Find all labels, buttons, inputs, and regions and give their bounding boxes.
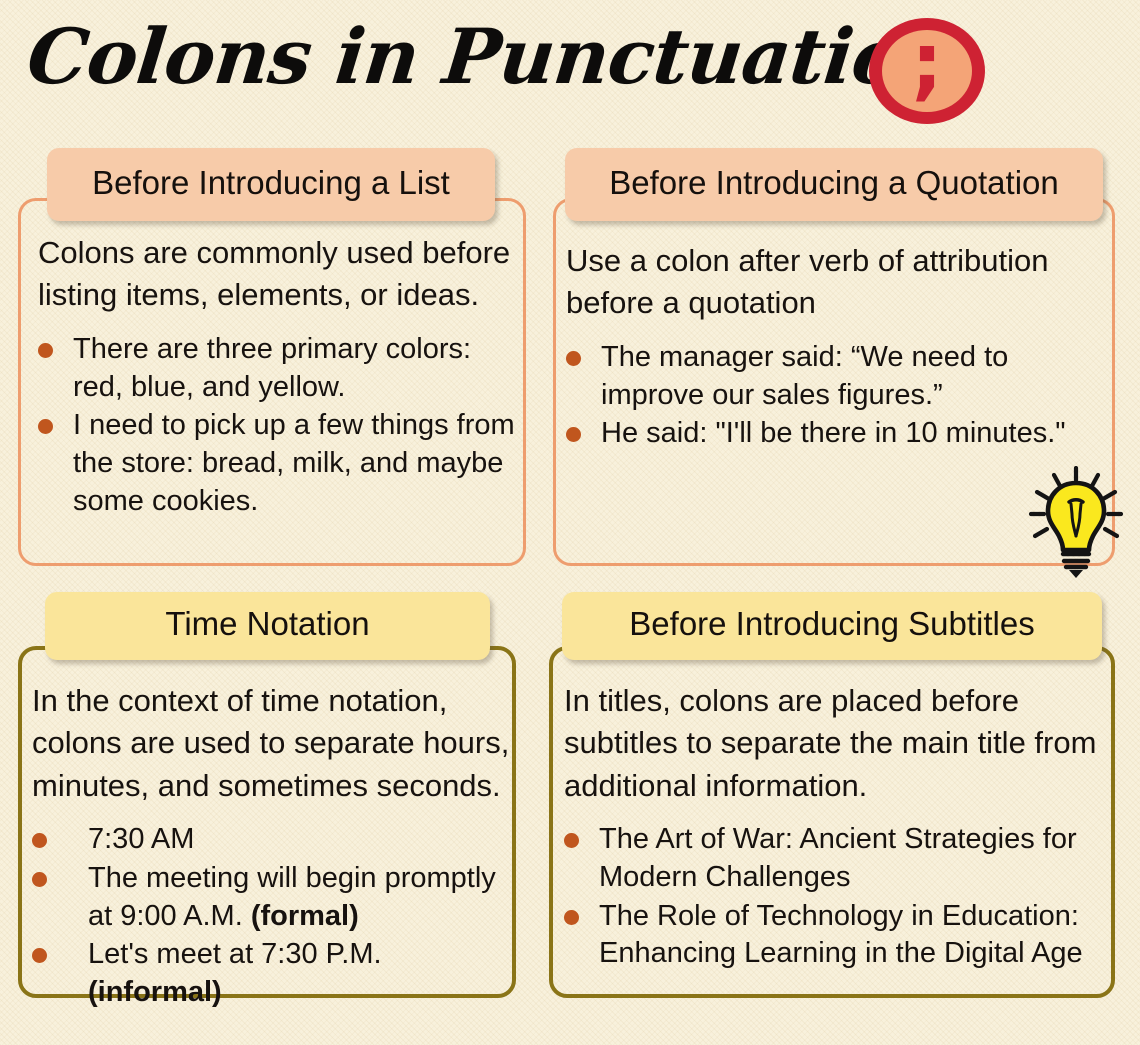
list-item: There are three primary colors: red, blu… bbox=[38, 331, 516, 406]
list-item: Let's meet at 7:30 P.M. (informal) bbox=[32, 936, 512, 1011]
list-item: The manager said: “We need to improve ou… bbox=[566, 339, 1114, 414]
list-item-text: I need to pick up a few things from the … bbox=[73, 407, 516, 520]
spacer bbox=[32, 807, 512, 821]
list-item-text: The meeting will begin promptly at 9:00 … bbox=[88, 860, 512, 935]
bullet-dot-icon bbox=[566, 351, 581, 366]
spacer bbox=[566, 325, 1114, 339]
card-body-time-notation: In the context of time notation, colons … bbox=[32, 680, 512, 1013]
page-title: Colons in Punctuation bbox=[23, 12, 961, 101]
page-header: Colons in Punctuation ; bbox=[0, 0, 1140, 140]
list-item-text: The Role of Technology in Education: Enh… bbox=[599, 898, 1112, 973]
bullet-dot-icon bbox=[38, 343, 53, 358]
card-header-before-introducing-subtitles: Before Introducing Subtitles bbox=[562, 592, 1102, 660]
card-header-before-introducing-a-quotation: Before Introducing a Quotation bbox=[565, 148, 1103, 221]
spacer bbox=[38, 317, 516, 331]
card-intro-text: In the context of time notation, colons … bbox=[32, 680, 512, 807]
list-item: The meeting will begin promptly at 9:00 … bbox=[32, 860, 512, 935]
list-item: 7:30 AM bbox=[32, 821, 512, 859]
card-header-time-notation: Time Notation bbox=[45, 592, 490, 660]
bullet-list-time-notation: 7:30 AM The meeting will begin promptly … bbox=[32, 821, 512, 1011]
list-item-text: Let's meet at 7:30 P.M. (informal) bbox=[88, 936, 512, 1011]
card-body-before-introducing-a-quotation: Use a colon after verb of attribution be… bbox=[566, 240, 1114, 454]
list-item-text: 7:30 AM bbox=[88, 821, 512, 859]
bullet-list-before-introducing-a-quotation: The manager said: “We need to improve ou… bbox=[566, 339, 1114, 453]
bullet-dot-icon bbox=[564, 910, 579, 925]
bullet-dot-icon bbox=[566, 427, 581, 442]
semicolon-circle-icon: ; bbox=[869, 18, 985, 124]
semicolon-glyph: ; bbox=[869, 18, 985, 124]
bullet-list-before-introducing-a-list: There are three primary colors: red, blu… bbox=[38, 331, 516, 520]
bullet-list-before-introducing-subtitles: The Art of War: Ancient Strategies for M… bbox=[564, 821, 1112, 973]
card-intro-text: Colons are commonly used before listing … bbox=[38, 232, 516, 317]
bullet-dot-icon bbox=[32, 833, 47, 848]
card-intro-text: Use a colon after verb of attribution be… bbox=[566, 240, 1114, 325]
card-body-before-introducing-a-list: Colons are commonly used before listing … bbox=[38, 232, 516, 521]
bullet-dot-icon bbox=[38, 419, 53, 434]
card-header-before-introducing-a-list: Before Introducing a List bbox=[47, 148, 495, 221]
list-item-text: The manager said: “We need to improve ou… bbox=[601, 339, 1114, 414]
list-item-text: There are three primary colors: red, blu… bbox=[73, 331, 516, 406]
bullet-dot-icon bbox=[564, 833, 579, 848]
list-item: The Art of War: Ancient Strategies for M… bbox=[564, 821, 1112, 896]
bullet-dot-icon bbox=[32, 948, 47, 963]
list-item: The Role of Technology in Education: Enh… bbox=[564, 898, 1112, 973]
card-intro-text: In titles, colons are placed before subt… bbox=[564, 680, 1112, 807]
bullet-dot-icon bbox=[32, 872, 47, 887]
list-item: I need to pick up a few things from the … bbox=[38, 407, 516, 520]
list-item: He said: "I'll be there in 10 minutes." bbox=[566, 415, 1114, 453]
card-body-before-introducing-subtitles: In titles, colons are placed before subt… bbox=[564, 680, 1112, 974]
list-item-text: The Art of War: Ancient Strategies for M… bbox=[599, 821, 1112, 896]
lightbulb-icon bbox=[1028, 466, 1124, 578]
spacer bbox=[564, 807, 1112, 821]
list-item-text: He said: "I'll be there in 10 minutes." bbox=[601, 415, 1114, 453]
